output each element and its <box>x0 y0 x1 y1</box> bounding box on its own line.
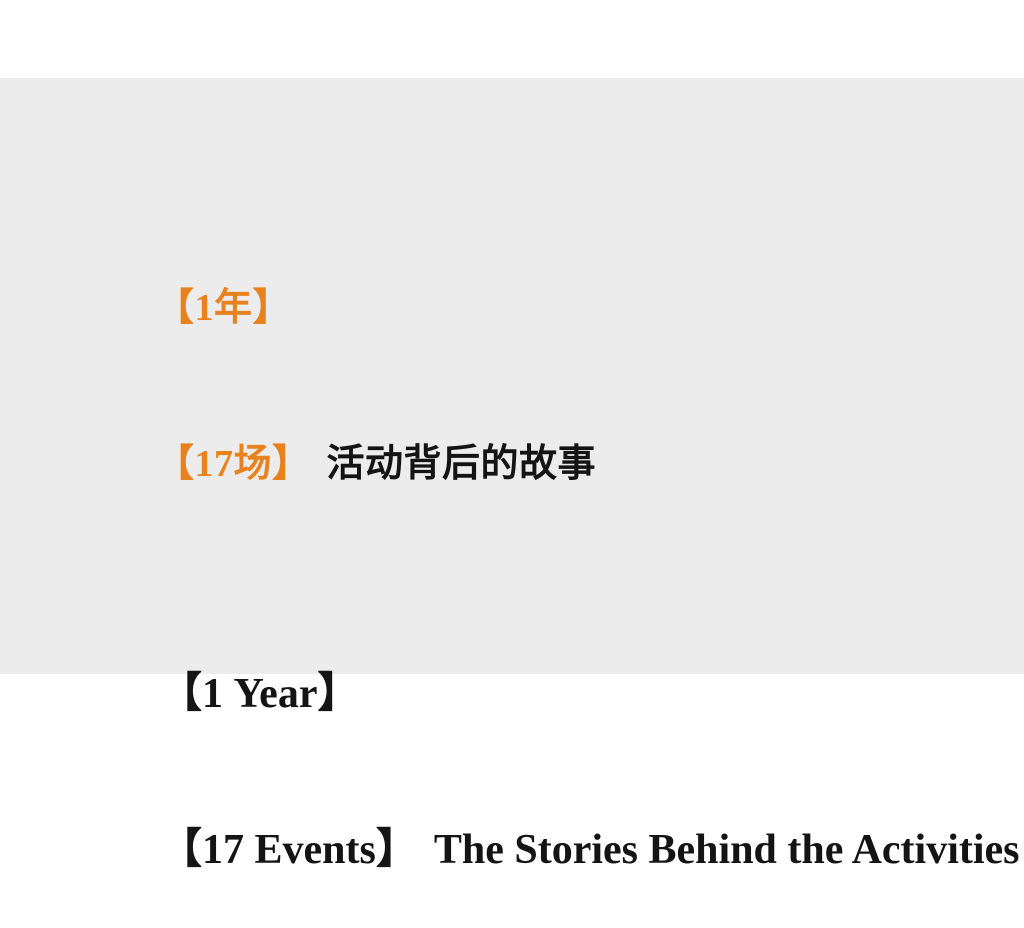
title-en-line-2: 【17 Events】The Stories Behind the Activi… <box>76 772 1006 928</box>
title-cjk-line-2: 【17场】活动背后的故事 <box>76 386 1006 542</box>
title-en-year-badge: 【1 Year】 <box>160 671 359 717</box>
title-cjk-year-badge: 【1年】 <box>156 287 291 329</box>
slide-title-block: 【1年】 【17场】活动背后的故事 【1 Year】 【17 Events】Th… <box>76 230 1006 928</box>
title-cjk-line-1: 【1年】 <box>76 230 1006 386</box>
title-cjk-events-badge: 【17场】 <box>156 443 311 485</box>
slide-canvas: 【1年】 【17场】活动背后的故事 【1 Year】 【17 Events】Th… <box>0 78 1024 674</box>
title-block-spacer <box>76 542 1006 616</box>
title-en-line-1: 【1 Year】 <box>76 616 1006 772</box>
slide-viewport: 【1年】 【17场】活动背后的故事 【1 Year】 【17 Events】Th… <box>0 0 1024 768</box>
title-en-events-badge: 【17 Events】 <box>160 827 418 873</box>
title-cjk-subject: 活动背后的故事 <box>327 443 597 485</box>
title-en-subject: The Stories Behind the Activities <box>434 827 1020 873</box>
